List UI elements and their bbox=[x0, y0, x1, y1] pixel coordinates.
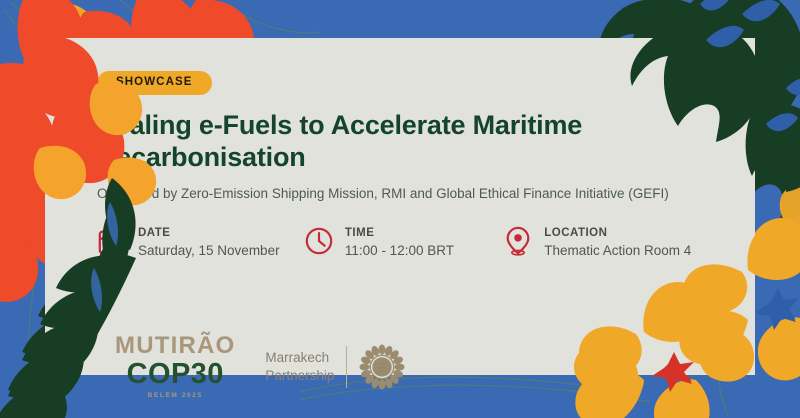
event-card-content: SHOWCASE Scaling e-Fuels to Accelerate M… bbox=[97, 71, 731, 261]
gca-label-line-1: Global bbox=[379, 363, 386, 365]
detail-label-location: LOCATION bbox=[544, 226, 691, 240]
detail-text-date: DATE Saturday, 15 November bbox=[138, 225, 280, 260]
global-climate-action-icon: Global Climate Action bbox=[359, 344, 405, 390]
detail-value-location: Thematic Action Room 4 bbox=[544, 242, 691, 261]
logo-strip: MUTIRÃO COP30 BELÉM 2025 Marrakech Partn… bbox=[115, 334, 405, 399]
marrakech-partnership-logo: Marrakech Partnership bbox=[265, 344, 405, 390]
detail-label-date: DATE bbox=[138, 226, 280, 240]
detail-value-time: 11:00 - 12:00 BRT bbox=[345, 242, 454, 261]
logo-divider bbox=[346, 346, 347, 388]
cop30-logo-cop30: COP30 bbox=[115, 359, 235, 389]
event-card: SHOWCASE Scaling e-Fuels to Accelerate M… bbox=[45, 38, 755, 375]
showcase-badge: SHOWCASE bbox=[97, 71, 212, 95]
detail-value-date: Saturday, 15 November bbox=[138, 242, 280, 261]
marrakech-partnership-text: Marrakech Partnership bbox=[265, 349, 346, 384]
event-title: Scaling e-Fuels to Accelerate Maritime D… bbox=[97, 109, 697, 173]
detail-text-location: LOCATION Thematic Action Room 4 bbox=[544, 225, 691, 260]
event-details-row: DATE Saturday, 15 November TIME 11:00 - … bbox=[97, 225, 731, 260]
detail-item-date: DATE Saturday, 15 November bbox=[97, 225, 304, 260]
event-organizer: Organized by Zero-Emission Shipping Miss… bbox=[97, 185, 731, 203]
flower-center-blue bbox=[756, 288, 798, 328]
marrakech-line-2: Partnership bbox=[265, 367, 334, 384]
detail-item-location: LOCATION Thematic Action Room 4 bbox=[503, 225, 731, 260]
clock-icon bbox=[304, 226, 334, 256]
detail-label-time: TIME bbox=[345, 226, 454, 240]
cop30-logo-belem: BELÉM 2025 bbox=[115, 392, 235, 399]
cop30-logo-mutirao: MUTIRÃO bbox=[115, 334, 235, 358]
event-card-canvas: SHOWCASE Scaling e-Fuels to Accelerate M… bbox=[0, 0, 800, 418]
location-pin-icon bbox=[503, 226, 533, 256]
detail-item-time: TIME 11:00 - 12:00 BRT bbox=[304, 225, 503, 260]
marrakech-line-1: Marrakech bbox=[265, 349, 334, 366]
calendar-icon bbox=[97, 226, 127, 256]
cop30-logo: MUTIRÃO COP30 BELÉM 2025 bbox=[115, 334, 235, 399]
detail-text-time: TIME 11:00 - 12:00 BRT bbox=[345, 225, 454, 260]
